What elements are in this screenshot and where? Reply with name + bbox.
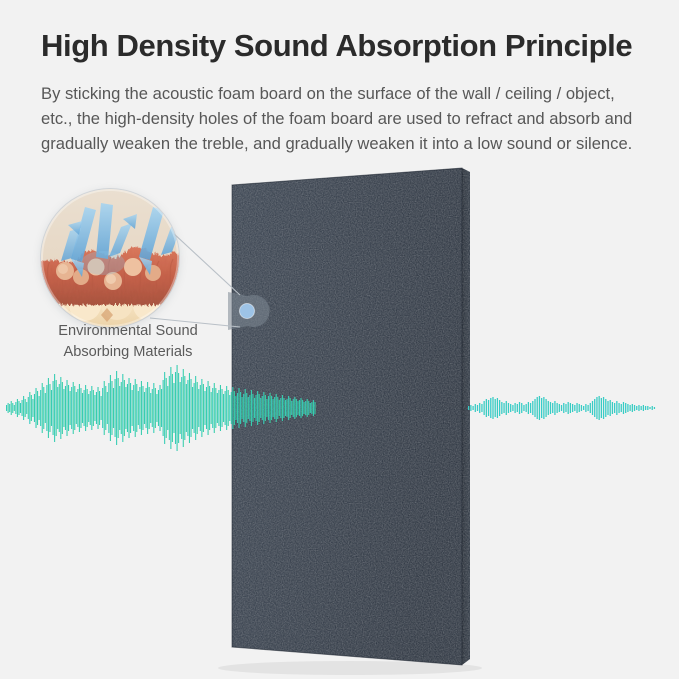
magnifier-content (41, 189, 179, 327)
caption-line-1: Environmental Sound (28, 321, 228, 342)
magnifier-svg (41, 189, 179, 327)
magnifier-circle[interactable] (41, 189, 179, 327)
caption-line-2: Absorbing Materials (28, 342, 228, 363)
infographic-canvas: High Density Sound Absorption Principle … (0, 0, 679, 679)
magnifier-caption: Environmental Sound Absorbing Materials (28, 321, 228, 362)
panel-front-face (225, 160, 475, 675)
